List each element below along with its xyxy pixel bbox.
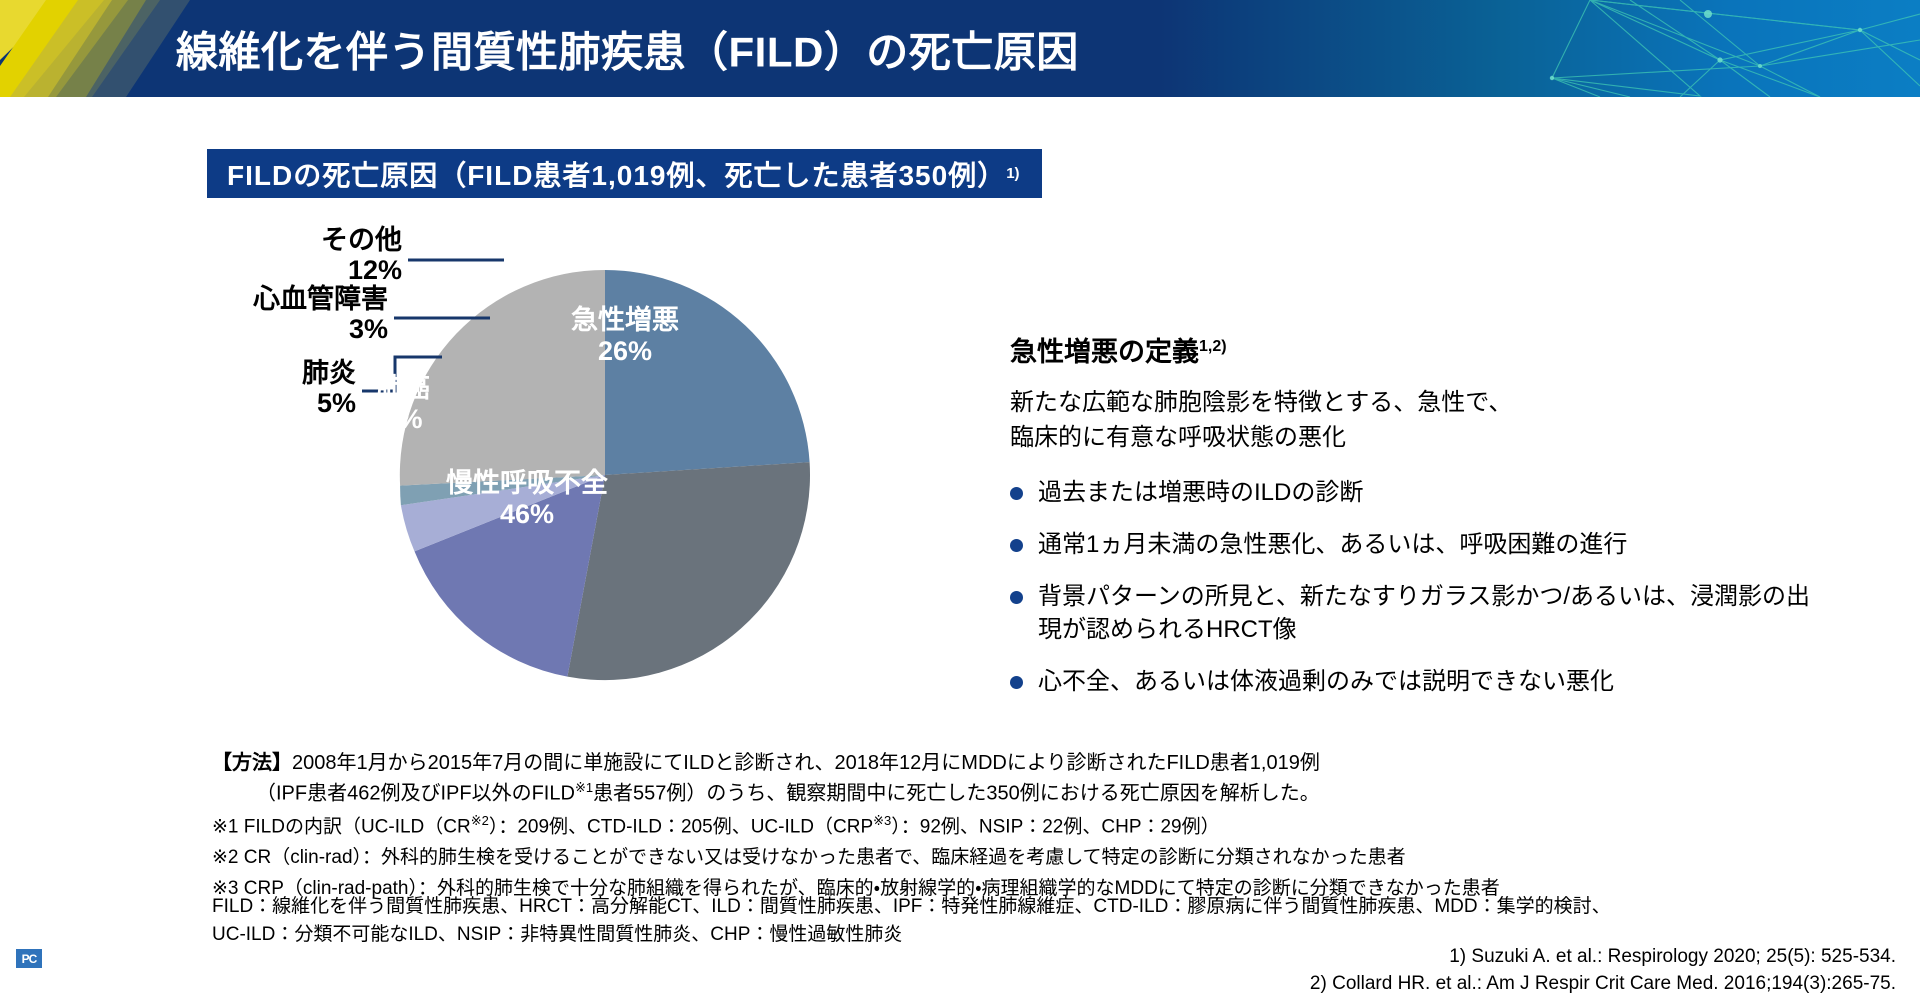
pie-chart: その他 12% 心血管障害 3% 肺炎 5% 急性増悪 26% 慢性呼吸不全 4…: [180, 230, 940, 750]
pie-internal-label-chronic-respiratory-failure: 慢性呼吸不全 46%: [412, 468, 642, 530]
definition-bullet-1: 過去または増悪時のILDの診断: [1038, 476, 1363, 509]
definition-panel: 急性増悪の定義1,2) 新たな広範な肺胞陰影を特徴とする、急性で、 臨床的に有意…: [1010, 330, 1890, 717]
list-item: 通常1ヵ月未満の急性悪化、あるいは、呼吸困難の進行: [1010, 528, 1890, 561]
slide-root: 線維化を伴う間質性肺疾患（FILD）の死亡原因 FILDの死亡原因（FILD患者…: [0, 0, 1920, 998]
pie-label-name-lung-cancer: 肺癌: [376, 373, 430, 403]
definition-title: 急性増悪の定義1,2): [1010, 330, 1890, 369]
pie-label-value-other: 12%: [348, 255, 402, 285]
definition-title-text: 急性増悪の定義: [1010, 337, 1199, 367]
method-label: 【方法】: [212, 752, 292, 774]
definition-bullet-3: 背景パターンの所見と、新たなすりガラス影かつ/あるいは、浸潤影の出現が認められる…: [1038, 580, 1828, 646]
pie-label-value-chronic-respiratory-failure: 46%: [500, 499, 554, 529]
chart-title-superscript: 1): [1006, 165, 1019, 182]
reference-1: 1) Suzuki A. et al.: Respirology 2020; 2…: [1310, 944, 1896, 971]
bullet-dot-icon: [1010, 591, 1023, 604]
pie-label-name-acute-exacerbation: 急性増悪: [571, 305, 679, 335]
pie-label-value-lung-cancer: 9%: [383, 404, 422, 434]
abbreviation-line-1: FILD：線維化を伴う間質性肺疾患、HRCT：高分解能CT、ILD：間質性肺疾患…: [212, 893, 1832, 921]
company-logo: PC: [16, 949, 42, 968]
method-text-2a: （IPF患者462例及びIPF以外のFILD: [256, 783, 575, 805]
definition-body-line-1: 新たな広範な肺胞陰影を特徴とする、急性で、: [1010, 386, 1890, 421]
pie-external-label-other: その他 12%: [180, 225, 402, 285]
definition-body-line-2: 臨床的に有意な呼吸状態の悪化: [1010, 421, 1890, 456]
pie-label-value-acute-exacerbation: 26%: [598, 336, 652, 366]
slide-header: 線維化を伴う間質性肺疾患（FILD）の死亡原因: [0, 0, 1920, 97]
page-title: 線維化を伴う間質性肺疾患（FILD）の死亡原因: [176, 18, 1079, 79]
chart-title-banner: FILDの死亡原因（FILD患者1,019例、死亡した患者350例）1): [207, 149, 1042, 198]
method-line-2: （IPF患者462例及びIPF以外のFILD※1患者557例）のうち、観察期間中…: [212, 778, 1772, 809]
definition-title-superscript: 1,2): [1199, 338, 1227, 355]
note-1-middle: ）：209例、CTD-ILD：205例、UC-ILD（CRP: [489, 816, 873, 837]
note-1-suffix: ）：92例、NSIP：22例、CHP：29例）: [891, 816, 1219, 837]
reference-2: 2) Collard HR. et al.: Am J Respir Crit …: [1310, 971, 1896, 998]
note-1: ※1 FILDの内訳（UC-ILD（CR※2）：209例、CTD-ILD：205…: [212, 810, 1832, 843]
pie-internal-label-acute-exacerbation: 急性増悪 26%: [535, 305, 715, 367]
abbreviation-list: FILD：線維化を伴う間質性肺疾患、HRCT：高分解能CT、ILD：間質性肺疾患…: [212, 893, 1832, 948]
definition-bullet-list: 過去または増悪時のILDの診断 通常1ヵ月未満の急性悪化、あるいは、呼吸困難の進…: [1010, 476, 1890, 699]
chevron-accent-decoration: [0, 0, 190, 97]
list-item: 過去または増悪時のILDの診断: [1010, 476, 1890, 509]
chart-title-text: FILDの死亡原因（FILD患者1,019例、死亡した患者350例）: [227, 154, 1006, 194]
pie-label-name-chronic-respiratory-failure: 慢性呼吸不全: [446, 468, 608, 498]
pie-external-label-cardiovascular: 心血管障害 3%: [180, 284, 388, 344]
pie-external-label-pneumonia: 肺炎 5%: [180, 358, 356, 418]
pie-internal-label-lung-cancer: 肺癌 9%: [348, 373, 458, 435]
list-item: 心不全、あるいは体液過剰のみでは説明できない悪化: [1010, 665, 1890, 698]
note-1-superscript-2: ※3: [873, 813, 891, 828]
definition-body: 新たな広範な肺胞陰影を特徴とする、急性で、 臨床的に有意な呼吸状態の悪化: [1010, 386, 1890, 456]
method-text-1: 2008年1月から2015年7月の間に単施設にてILDと診断され、2018年12…: [292, 752, 1320, 774]
definition-bullet-2: 通常1ヵ月未満の急性悪化、あるいは、呼吸困難の進行: [1038, 528, 1627, 561]
notes-block: ※1 FILDの内訳（UC-ILD（CR※2）：209例、CTD-ILD：205…: [212, 810, 1832, 905]
list-item: 背景パターンの所見と、新たなすりガラス影かつ/あるいは、浸潤影の出現が認められる…: [1010, 580, 1890, 646]
pie-label-name-cardiovascular: 心血管障害: [253, 284, 388, 314]
note-1-superscript-1: ※2: [471, 813, 489, 828]
method-text-2b: 患者557例）のうち、観察期間中に死亡した350例における死亡原因を解析した。: [593, 783, 1320, 805]
note-1-prefix: ※1 FILDの内訳（UC-ILD（CR: [212, 816, 471, 837]
method-superscript: ※1: [575, 780, 593, 795]
note-2: ※2 CR（clin-rad）：外科的肺生検を受けることができない又は受けなかっ…: [212, 843, 1832, 874]
network-pattern-decoration: [1160, 0, 1920, 97]
pie-label-value-cardiovascular: 3%: [349, 314, 388, 344]
method-line-1: 【方法】2008年1月から2015年7月の間に単施設にてILDと診断され、201…: [212, 748, 1772, 778]
bullet-dot-icon: [1010, 676, 1023, 689]
pie-label-name-other: その他: [321, 225, 402, 255]
bullet-dot-icon: [1010, 487, 1023, 500]
bullet-dot-icon: [1010, 539, 1023, 552]
method-footnote: 【方法】2008年1月から2015年7月の間に単施設にてILDと診断され、201…: [212, 748, 1772, 809]
reference-list: 1) Suzuki A. et al.: Respirology 2020; 2…: [1310, 944, 1896, 998]
definition-bullet-4: 心不全、あるいは体液過剰のみでは説明できない悪化: [1038, 665, 1614, 698]
